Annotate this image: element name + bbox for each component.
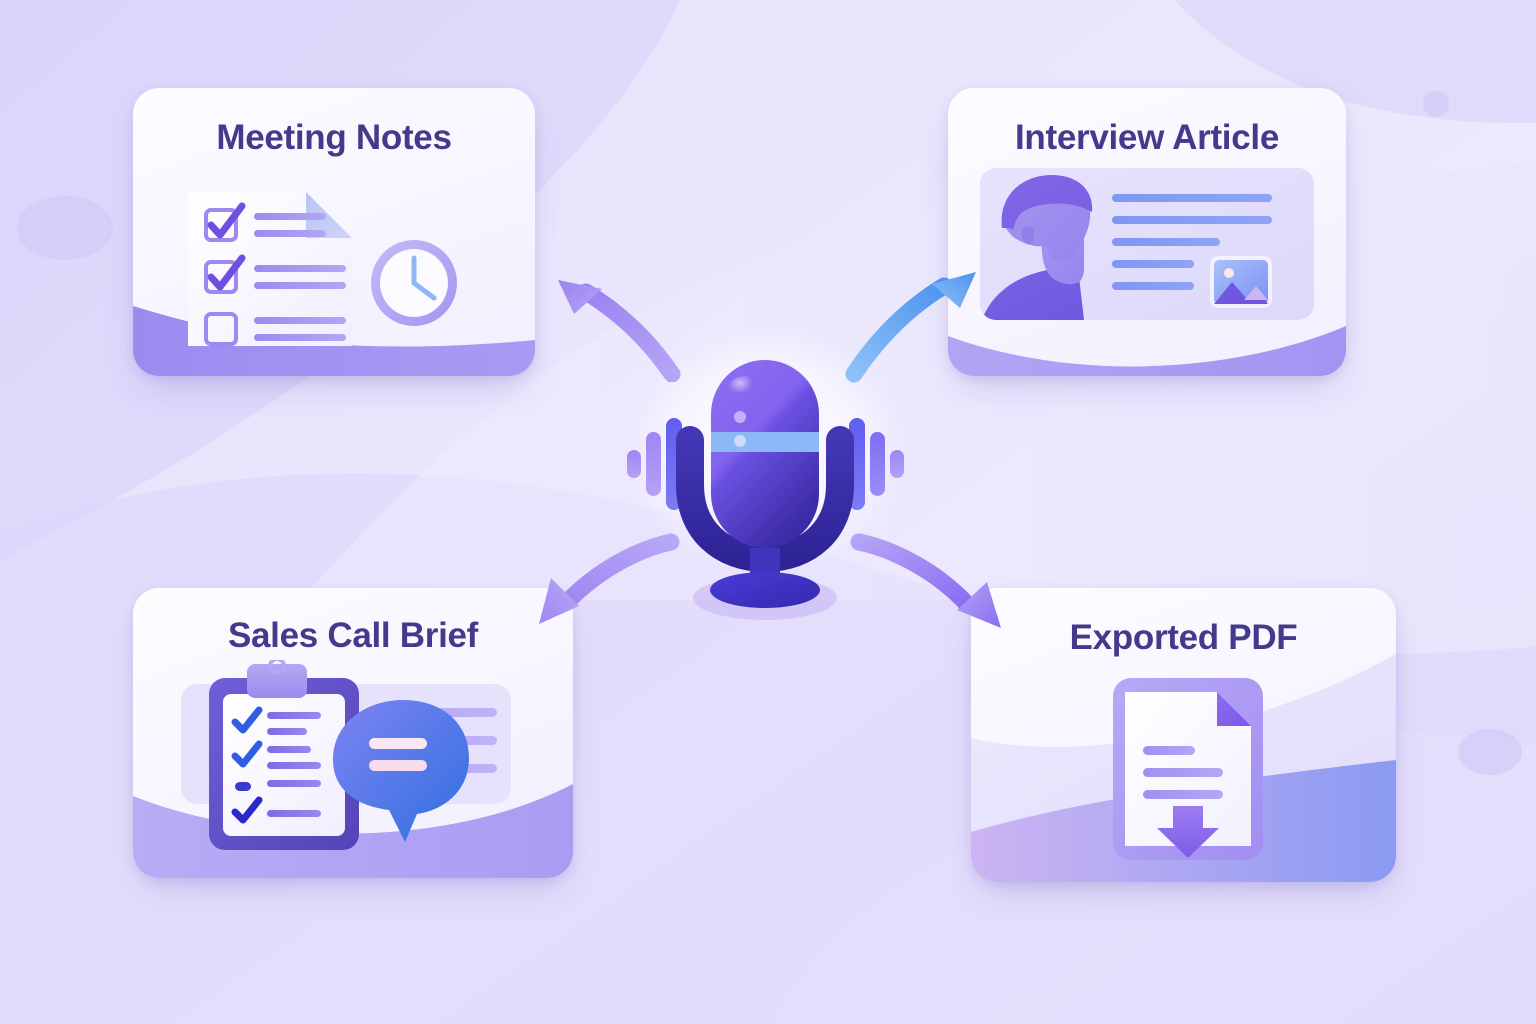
- card-meeting-notes[interactable]: Meeting Notes: [133, 88, 535, 376]
- card-title-sales-call-brief: Sales Call Brief: [133, 616, 573, 656]
- decor-circle-1: [17, 196, 113, 260]
- image-placeholder-icon: [1210, 256, 1272, 308]
- clock-icon: [371, 240, 457, 326]
- arrow-to-interview-article: [840, 258, 995, 383]
- card-exported-pdf[interactable]: Exported PDF: [971, 588, 1396, 882]
- sales-call-brief-art: [191, 660, 521, 860]
- arrow-to-meeting-notes: [540, 262, 690, 382]
- decor-circle-3: [1458, 729, 1522, 775]
- infographic-canvas: Meeting Notes: [0, 0, 1536, 1024]
- pdf-document-icon: [1111, 676, 1265, 862]
- interview-article-art: [980, 168, 1314, 320]
- card-title-meeting-notes: Meeting Notes: [133, 118, 535, 158]
- card-title-interview-article: Interview Article: [948, 118, 1346, 158]
- card-sales-call-brief[interactable]: Sales Call Brief: [133, 588, 573, 878]
- card-interview-article[interactable]: Interview Article: [948, 88, 1346, 376]
- card-title-exported-pdf: Exported PDF: [971, 618, 1396, 658]
- checklist-document-icon: [188, 170, 488, 355]
- decor-circle-2: [1423, 91, 1449, 117]
